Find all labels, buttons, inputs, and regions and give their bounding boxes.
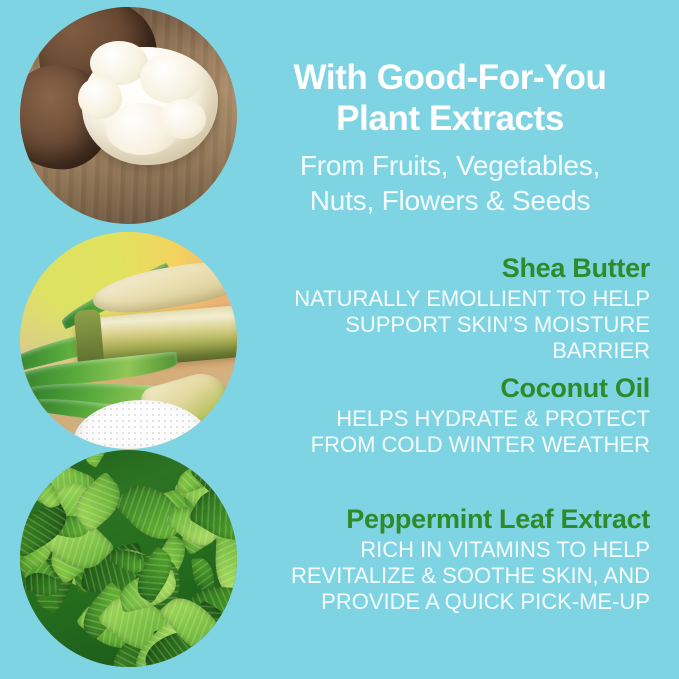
ingredient-shea-butter: Shea Butter NATURALLY EMOLLIENT TO HELP … [250, 252, 650, 364]
butter-lump [78, 77, 122, 119]
butter-lump [160, 99, 206, 139]
product-benefits-infographic: With Good-For-You Plant Extracts From Fr… [0, 0, 679, 679]
ingredient-peppermint-leaf-extract: Peppermint Leaf Extract RICH IN VITAMINS… [250, 503, 650, 615]
ingredient-description: HELPS HYDRATE & PROTECT FROM COLD WINTER… [250, 406, 650, 458]
description-line-3: PROVIDE A QUICK PICK-ME-UP [321, 589, 650, 614]
ingredient-coconut-oil: Coconut Oil HELPS HYDRATE & PROTECT FROM… [250, 372, 650, 458]
title-line-1: With Good-For-You [250, 57, 650, 98]
subtitle-line-2: Nuts, Flowers & Seeds [250, 183, 650, 218]
description-line-2: REVITALIZE & SOOTHE SKIN, AND [291, 563, 650, 588]
description-line-1: NATURALLY EMOLLIENT TO HELP [294, 286, 650, 311]
description-line-1: RICH IN VITAMINS TO HELP [360, 537, 650, 562]
shea-butter-image [20, 7, 237, 224]
ingredient-description: RICH IN VITAMINS TO HELP REVITALIZE & SO… [250, 537, 650, 615]
ingredient-name: Peppermint Leaf Extract [250, 503, 650, 535]
page-title: With Good-For-You Plant Extracts [250, 57, 650, 139]
ingredient-name: Shea Butter [250, 252, 650, 284]
text-column: With Good-For-You Plant Extracts From Fr… [250, 0, 650, 679]
coconut-oil-image [20, 232, 237, 449]
peppermint-image [20, 450, 237, 667]
title-line-2: Plant Extracts [250, 98, 650, 139]
description-line-2: SUPPORT SKIN’S MOISTURE BARRIER [345, 312, 650, 363]
description-line-2: FROM COLD WINTER WEATHER [311, 432, 650, 457]
ingredient-description: NATURALLY EMOLLIENT TO HELP SUPPORT SKIN… [250, 286, 650, 364]
description-line-1: HELPS HYDRATE & PROTECT [336, 406, 650, 431]
subtitle-line-1: From Fruits, Vegetables, [250, 148, 650, 183]
page-subtitle: From Fruits, Vegetables, Nuts, Flowers &… [250, 148, 650, 218]
butter-lump [140, 53, 202, 103]
ingredient-name: Coconut Oil [250, 372, 650, 404]
